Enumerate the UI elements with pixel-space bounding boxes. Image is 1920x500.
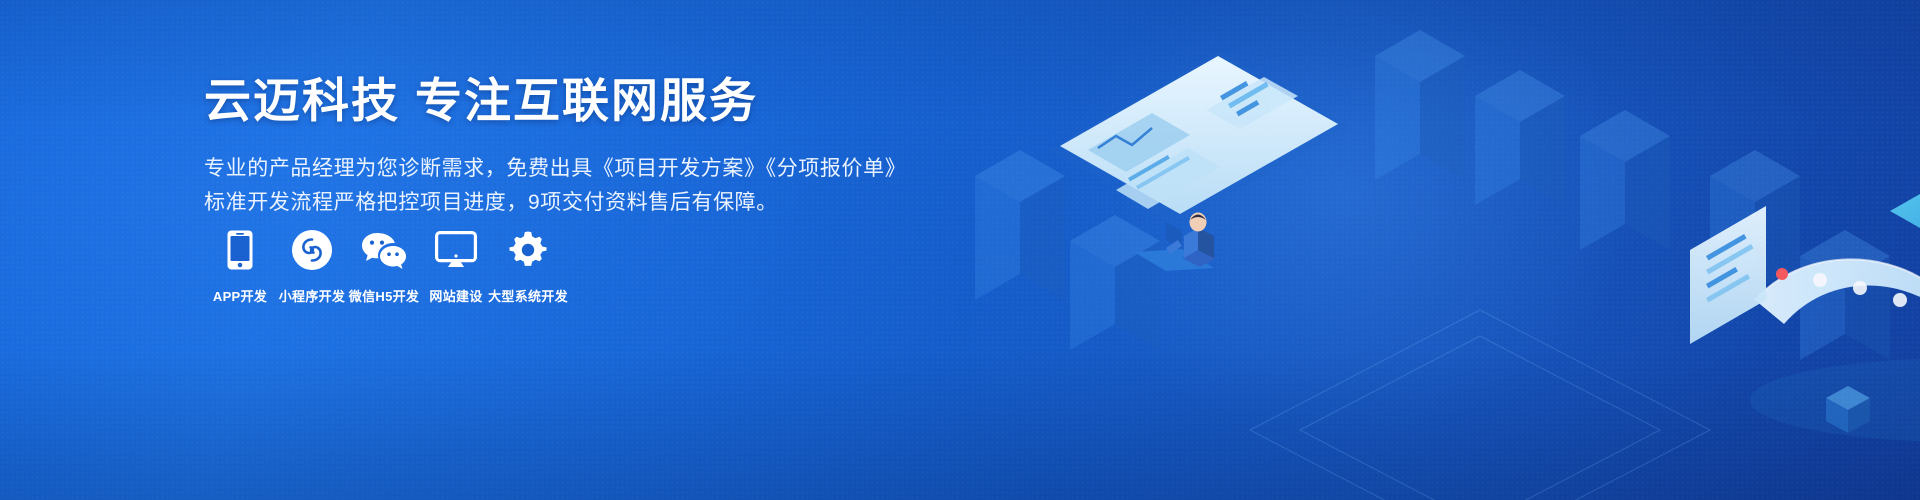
service-list: APP开发 小程序开发: [204, 228, 564, 305]
page-title: 云迈科技 专注互联网服务: [204, 74, 924, 128]
service-item-large-system[interactable]: 大型系统开发: [492, 228, 564, 305]
monitor-icon: [435, 228, 477, 272]
banner-subtitle: 专业的产品经理为您诊断需求，免费出具《项目开发方案》《分项报价单》 标准开发流程…: [204, 152, 924, 220]
subtitle-line-2: 标准开发流程严格把控项目进度，9项交付资料售后有保障。: [204, 186, 924, 220]
service-label-wechat-h5: 微信H5开发: [349, 286, 419, 305]
service-label-website: 网站建设: [429, 286, 482, 305]
mini-program-icon: [292, 228, 332, 272]
service-item-mini-program[interactable]: 小程序开发: [276, 228, 348, 305]
subtitle-line-1: 专业的产品经理为您诊断需求，免费出具《项目开发方案》《分项报价单》: [204, 152, 924, 186]
banner-copy: 云迈科技 专注互联网服务 专业的产品经理为您诊断需求，免费出具《项目开发方案》《…: [204, 74, 924, 220]
service-label-large-system: 大型系统开发: [488, 286, 568, 305]
illustration-isometric-data-platform: [920, 0, 1920, 500]
hero-banner: 云迈科技 专注互联网服务 专业的产品经理为您诊断需求，免费出具《项目开发方案》《…: [0, 0, 1920, 500]
wechat-icon: [361, 228, 407, 272]
mobile-phone-icon: [227, 228, 253, 272]
service-label-app: APP开发: [213, 286, 267, 305]
service-item-app[interactable]: APP开发: [204, 228, 276, 305]
gear-icon: [508, 228, 548, 272]
service-label-mini-program: 小程序开发: [279, 286, 346, 305]
service-item-website[interactable]: 网站建设: [420, 228, 492, 305]
service-item-wechat-h5[interactable]: 微信H5开发: [348, 228, 420, 305]
